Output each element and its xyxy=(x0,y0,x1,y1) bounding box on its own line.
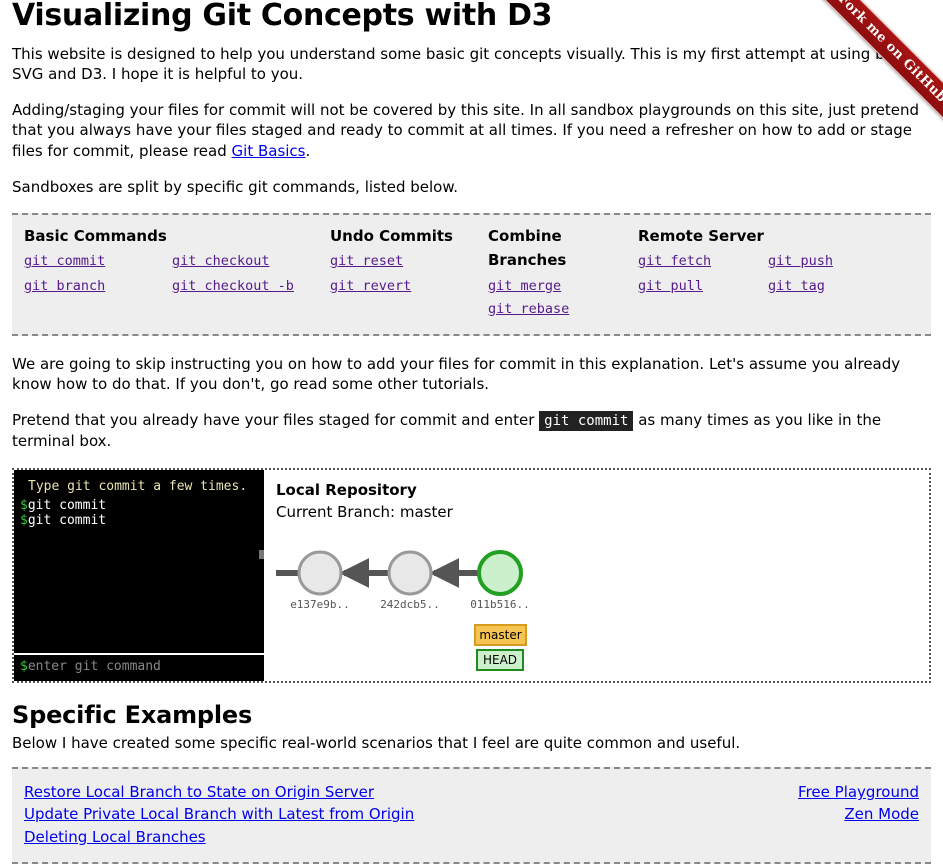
terminal-history-line: $git commit xyxy=(20,499,258,514)
commit-hash-label: e137e9b.. xyxy=(290,598,350,611)
examples-cell-right-2: Zen Mode xyxy=(703,803,931,825)
example-link-update-private-local-branch[interactable]: Update Private Local Branch with Latest … xyxy=(24,803,703,825)
intro-paragraph-2-text-after: . xyxy=(306,142,311,160)
command-col-heading-combine-line2: Branches xyxy=(488,249,638,273)
link-git-rebase[interactable]: git rebase xyxy=(488,299,569,319)
commit-node-head[interactable] xyxy=(479,552,521,594)
commit-hash-label: 242dcb5.. xyxy=(380,598,440,611)
skip-instruction-paragraph: We are going to skip instructing you on … xyxy=(12,354,930,395)
command-col-heading-basic-spacer xyxy=(172,225,330,249)
link-git-revert[interactable]: git revert xyxy=(330,276,411,296)
examples-cell-right-1: Free Playground xyxy=(703,781,931,803)
local-repository-panel: Local Repository Current Branch: master xyxy=(264,470,929,681)
link-git-merge[interactable]: git merge xyxy=(488,276,561,296)
branch-tag-master-label: master xyxy=(479,628,521,642)
command-cell-git-tag: git tag xyxy=(768,274,931,297)
terminal-prompt-symbol: $ xyxy=(20,498,28,513)
examples-cell-left-2: Update Private Local Branch with Latest … xyxy=(12,803,703,825)
pretend-paragraph: Pretend that you already have your files… xyxy=(12,410,930,451)
specific-examples-table: Restore Local Branch to State on Origin … xyxy=(12,781,931,848)
specific-examples-title: Specific Examples xyxy=(12,699,931,731)
examples-row-1: Restore Local Branch to State on Origin … xyxy=(12,781,931,803)
intro-paragraph-2-text-before: Adding/staging your files for commit wil… xyxy=(12,101,919,160)
command-col-heading-remote-spacer xyxy=(768,225,931,249)
command-index-row-2: git branch git checkout -b git revert gi… xyxy=(12,274,931,297)
examples-cell-left-1: Restore Local Branch to State on Origin … xyxy=(12,781,703,803)
command-cell-git-push: git push xyxy=(768,249,931,273)
command-cell-git-fetch: git fetch xyxy=(638,249,768,273)
terminal-history-line: $git commit xyxy=(20,514,258,529)
command-cell-git-commit: git commit xyxy=(12,249,172,273)
command-cell-git-revert: git revert xyxy=(330,274,488,297)
link-git-pull[interactable]: git pull xyxy=(638,276,703,296)
examples-row-2: Update Private Local Branch with Latest … xyxy=(12,803,931,825)
commit-node[interactable] xyxy=(299,552,341,594)
example-link-restore-local-branch[interactable]: Restore Local Branch to State on Origin … xyxy=(24,781,703,803)
link-git-commit[interactable]: git commit xyxy=(24,251,105,271)
command-cell-empty-3 xyxy=(330,297,488,320)
link-git-reset[interactable]: git reset xyxy=(330,251,403,271)
command-cell-git-rebase: git rebase xyxy=(488,297,638,320)
example-link-free-playground[interactable]: Free Playground xyxy=(703,781,919,803)
command-col-heading-remote: Remote Server xyxy=(638,225,768,249)
git-basics-link[interactable]: Git Basics xyxy=(232,142,306,160)
examples-cell-left-3: Deleting Local Branches xyxy=(12,826,703,848)
link-git-checkout-b[interactable]: git checkout -b xyxy=(172,276,294,296)
commit-graph-svg: e137e9b.. 242dcb5.. 011b516.. master HEA… xyxy=(276,528,929,681)
command-col-heading-basic: Basic Commands xyxy=(12,225,172,249)
command-index-block: Basic Commands Undo Commits Combine Remo… xyxy=(12,213,931,336)
link-git-tag[interactable]: git tag xyxy=(768,276,825,296)
intro-paragraph-2: Adding/staging your files for commit wil… xyxy=(12,100,930,161)
terminal-input-row[interactable]: $enter git command xyxy=(14,653,264,681)
command-cell-git-checkout: git checkout xyxy=(172,249,330,273)
fork-me-on-github-ribbon[interactable]: Fork me on GitHub xyxy=(813,0,943,130)
commit-hash-label: 011b516.. xyxy=(470,598,530,611)
command-col-heading-combine: Combine xyxy=(488,225,638,249)
commit-node[interactable] xyxy=(389,552,431,594)
page-title: Visualizing Git Concepts with D3 xyxy=(12,0,931,32)
intro-paragraph-3: Sandboxes are split by specific git comm… xyxy=(12,177,930,197)
link-git-push[interactable]: git push xyxy=(768,251,833,271)
terminal-prompt-symbol: $ xyxy=(20,513,28,528)
page-root: Visualizing Git Concepts with D3 This we… xyxy=(0,0,943,864)
command-cell-empty-4 xyxy=(638,297,768,320)
command-col-heading-undo: Undo Commits xyxy=(330,225,488,249)
terminal-input-prompt-symbol: $ xyxy=(20,659,28,674)
examples-row-3: Deleting Local Branches xyxy=(12,826,931,848)
command-cell-git-pull: git pull xyxy=(638,274,768,297)
command-index-heading-row: Basic Commands Undo Commits Combine Remo… xyxy=(12,225,931,249)
examples-cell-right-3 xyxy=(703,826,931,848)
command-index-table: Basic Commands Undo Commits Combine Remo… xyxy=(12,225,931,320)
terminal-panel[interactable]: Type git commit a few times. $git commit… xyxy=(14,470,264,681)
command-cell-empty-5 xyxy=(768,297,931,320)
terminal-command-input[interactable]: enter git command xyxy=(28,659,161,674)
example-link-deleting-local-branches[interactable]: Deleting Local Branches xyxy=(24,826,703,848)
git-commit-inline-code: git commit xyxy=(539,411,633,431)
command-cell-git-checkout-b: git checkout -b xyxy=(172,274,330,297)
local-repository-title: Local Repository xyxy=(276,480,929,500)
link-git-checkout[interactable]: git checkout xyxy=(172,251,270,271)
example-link-zen-mode[interactable]: Zen Mode xyxy=(703,803,919,825)
intro-paragraph-1: This website is designed to help you und… xyxy=(12,44,930,85)
terminal-output-log: Type git commit a few times. $git commit… xyxy=(14,470,264,653)
terminal-instruction: Type git commit a few times. xyxy=(20,478,258,496)
specific-examples-block: Restore Local Branch to State on Origin … xyxy=(12,767,931,864)
command-index-row-3: git rebase xyxy=(12,297,931,320)
command-cell-empty-1 xyxy=(12,297,172,320)
command-cell-empty-2 xyxy=(172,297,330,320)
head-tag-label: HEAD xyxy=(483,653,517,667)
terminal-history-command-2: git commit xyxy=(28,513,106,528)
git-sandbox: Type git commit a few times. $git commit… xyxy=(12,468,931,683)
command-cell-git-reset: git reset xyxy=(330,249,488,273)
command-index-row-1: git commit git checkout git reset Branch… xyxy=(12,249,931,273)
specific-examples-subtitle: Below I have created some specific real-… xyxy=(12,733,930,753)
command-cell-git-merge: git merge xyxy=(488,274,638,297)
terminal-history-command-1: git commit xyxy=(28,498,106,513)
pretend-text-before: Pretend that you already have your files… xyxy=(12,411,539,429)
commit-graph-canvas: e137e9b.. 242dcb5.. 011b516.. master HEA… xyxy=(276,528,929,681)
current-branch-label: Current Branch: master xyxy=(276,502,929,522)
link-git-branch[interactable]: git branch xyxy=(24,276,105,296)
link-git-fetch[interactable]: git fetch xyxy=(638,251,711,271)
command-cell-git-branch: git branch xyxy=(12,274,172,297)
fork-ribbon-label: Fork me on GitHub xyxy=(816,0,943,125)
